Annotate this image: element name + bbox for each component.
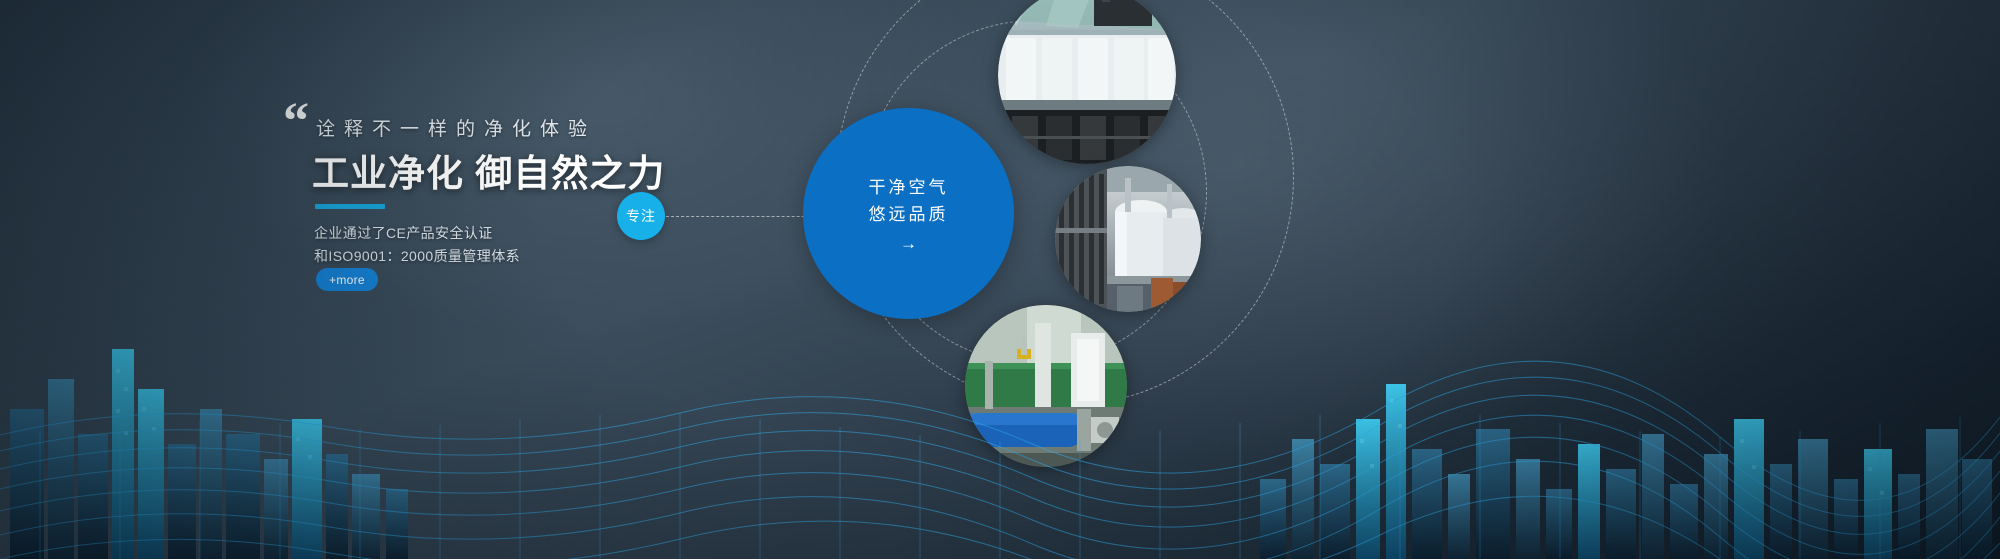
quote-mark-icon: “ [283, 96, 307, 148]
more-button[interactable]: +more [316, 268, 378, 291]
storage-tanks-image [1055, 166, 1201, 312]
main-cta-circle[interactable]: 干净空气 悠远品质 → [803, 108, 1014, 319]
hero-description-line-1: 企业通过了CE产品安全认证 [314, 222, 520, 245]
hero-banner: “ 诠释不一样的净化体验 工业净化 御自然之力 企业通过了CE产品安全认证 和I… [0, 0, 2000, 559]
hero-description-line-2: 和ISO9001：2000质量管理体系 [314, 245, 520, 268]
focus-badge[interactable]: 专注 [617, 192, 665, 240]
hero-graphic-cluster: 专注 干净空气 悠远品质 → [600, 0, 2000, 559]
arrow-right-icon: → [900, 234, 917, 254]
pipes-valves-image [965, 305, 1127, 467]
accent-divider [315, 204, 385, 209]
photo-bubble-pipes-valves[interactable] [965, 305, 1127, 467]
hero-description: 企业通过了CE产品安全认证 和ISO9001：2000质量管理体系 [314, 222, 520, 268]
photo-bubble-storage-tanks[interactable] [1055, 166, 1201, 312]
cta-line-2: 悠远品质 [869, 201, 949, 228]
cta-line-1: 干净空气 [869, 174, 949, 201]
hero-subtitle: 诠释不一样的净化体验 [316, 114, 596, 141]
